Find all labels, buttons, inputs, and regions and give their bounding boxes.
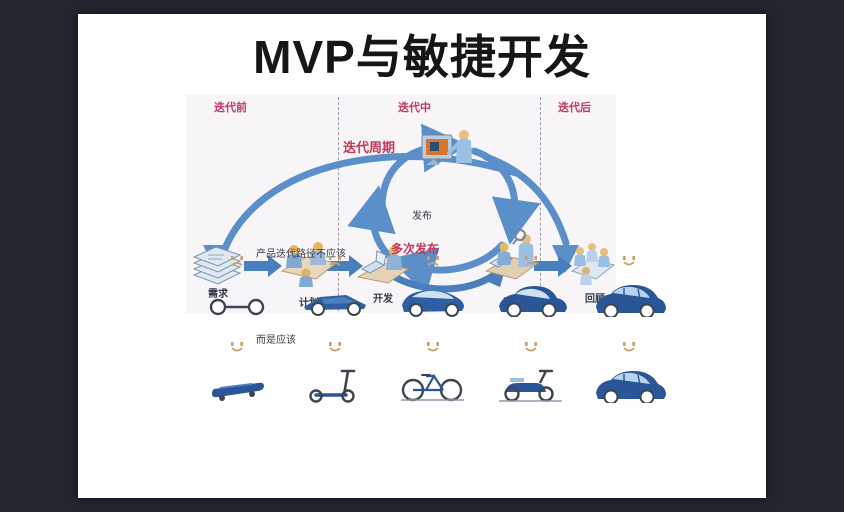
wheels-axle-icon — [200, 279, 274, 317]
happy-face-icon — [425, 341, 441, 353]
skateboard-icon — [200, 365, 274, 403]
happy-face-icon — [327, 341, 343, 353]
mvp-good-row — [198, 341, 668, 403]
mvp-good-step-car — [590, 341, 668, 403]
sad-face-icon — [425, 255, 441, 267]
car-near-icon — [494, 279, 568, 317]
scooter-icon — [298, 365, 372, 403]
happy-face-icon — [523, 341, 539, 353]
mvp-bad-step-body — [394, 255, 472, 317]
happy-face-icon — [229, 341, 245, 353]
publish-label: 发布 — [412, 207, 432, 222]
mvp-good-step-scooter — [296, 341, 374, 403]
mvp-bad-step-wheels — [198, 255, 276, 317]
mvp-bad-step-chassis — [296, 255, 374, 317]
cycle-label: 迭代周期 — [343, 137, 395, 156]
bicycle-icon — [396, 365, 470, 403]
sad-face-icon — [229, 255, 245, 267]
car-chassis-icon — [298, 279, 372, 317]
happy-face-icon — [621, 255, 637, 267]
sad-face-icon — [327, 255, 343, 267]
moped-icon — [494, 365, 568, 403]
car-full-icon — [592, 365, 666, 403]
car-full-icon — [592, 279, 666, 317]
page-title: MVP与敏捷开发 — [78, 28, 766, 86]
happy-face-icon — [621, 341, 637, 353]
car-body-icon — [396, 279, 470, 317]
sad-face-icon — [523, 255, 539, 267]
mvp-bad-row — [198, 255, 668, 317]
screen: MVP与敏捷开发 迭代前 迭代中 迭代后 — [0, 0, 844, 512]
mvp-good-step-moped — [492, 341, 570, 403]
mvp-good-step-skateboard — [198, 341, 276, 403]
mvp-bad-step-car — [590, 255, 668, 317]
mvp-bad-step-almost — [492, 255, 570, 317]
mvp-good-step-bicycle — [394, 341, 472, 403]
slide-card: MVP与敏捷开发 迭代前 迭代中 迭代后 — [78, 14, 766, 498]
